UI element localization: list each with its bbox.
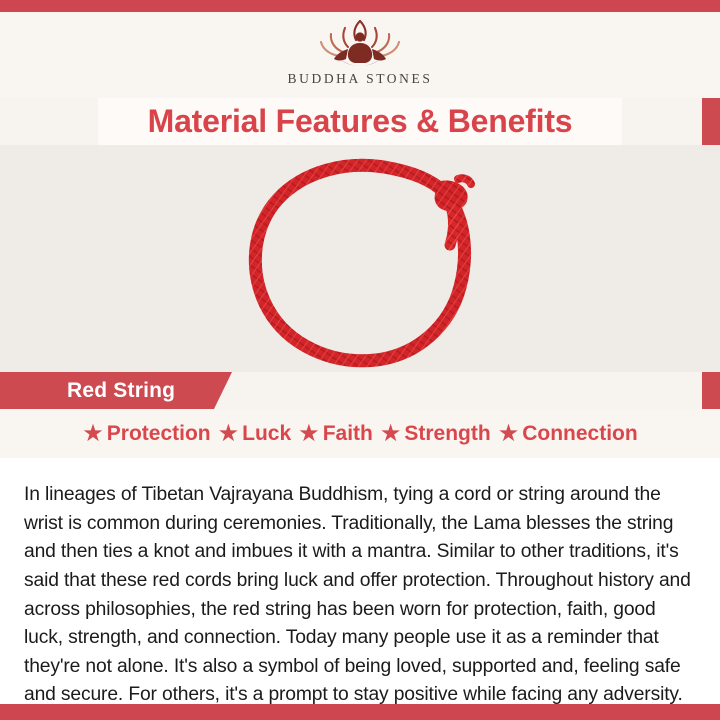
feature-item-faith: ★ Faith (298, 422, 373, 446)
star-icon: ★ (218, 422, 240, 446)
feature-label: Protection (107, 422, 211, 446)
feature-label: Faith (323, 422, 373, 446)
feature-item-strength: ★ Strength (380, 422, 491, 446)
feature-label: Strength (404, 422, 490, 446)
product-image-area (0, 145, 720, 372)
star-icon: ★ (298, 422, 320, 446)
star-icon: ★ (498, 422, 520, 446)
feature-label: Connection (522, 422, 638, 446)
star-icon: ★ (380, 422, 402, 446)
brand-logo: BUDDHA STONES (0, 12, 720, 87)
feature-item-connection: ★ Connection (498, 422, 638, 446)
lotus-meditation-figure-icon (301, 14, 419, 70)
title-banner: Material Features & Benefits (98, 98, 622, 145)
brand-header: BUDDHA STONES (0, 12, 720, 98)
top-border-bar (0, 0, 720, 12)
feature-label: Luck (242, 422, 291, 446)
page-title: Material Features & Benefits (148, 103, 573, 140)
feature-item-protection: ★ Protection (82, 422, 210, 446)
feature-item-luck: ★ Luck (218, 422, 292, 446)
product-name-ribbon: Red String (17, 372, 232, 409)
description-section: In lineages of Tibetan Vajrayana Buddhis… (0, 458, 720, 704)
infographic-page: BUDDHA STONES Material Features & Benefi… (0, 0, 720, 720)
star-icon: ★ (82, 422, 104, 446)
red-braided-string-bracelet-image (236, 157, 506, 375)
brand-name: BUDDHA STONES (0, 71, 720, 87)
description-body: In lineages of Tibetan Vajrayana Buddhis… (24, 481, 696, 710)
feature-keyword-row: ★ Protection ★ Luck ★ Faith ★ Strength ★… (0, 409, 720, 458)
product-name-label: Red String (67, 379, 175, 403)
